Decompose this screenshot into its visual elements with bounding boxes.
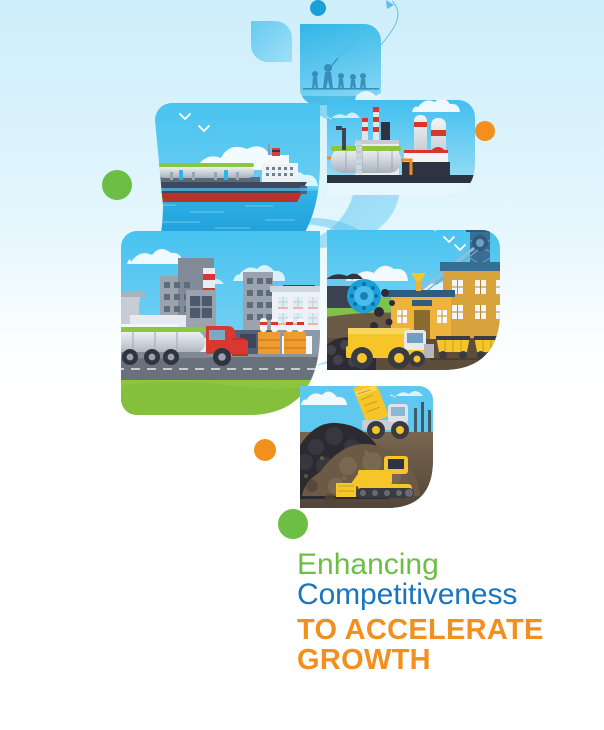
dot-green-left xyxy=(102,170,132,200)
haul-truck xyxy=(346,328,434,369)
headline-line-3: TO ACCELERATE xyxy=(297,615,597,646)
dot-orange-lower xyxy=(254,439,276,461)
dot-blue-top xyxy=(310,0,326,16)
storage-tank xyxy=(331,142,401,174)
dot-green-lower xyxy=(278,509,308,539)
tile-sky-top-left xyxy=(251,21,292,62)
headline-line-4: GROWTH xyxy=(297,645,597,676)
headline-line-1: Enhancing xyxy=(297,549,597,581)
tanker-truck xyxy=(106,326,248,366)
panel-refinery xyxy=(320,95,480,203)
panel-mining xyxy=(320,215,512,375)
lng-tanks xyxy=(158,163,254,180)
dot-orange-right xyxy=(475,121,495,141)
headline-block: Enhancing Competitiveness TO ACCELERATE … xyxy=(297,549,597,676)
plant-ground xyxy=(320,175,480,183)
panel-excavation xyxy=(295,380,440,510)
headline-line-2: Competitiveness xyxy=(297,579,597,611)
panel-industrial-city xyxy=(106,225,330,425)
cover-stage: Enhancing Competitiveness TO ACCELERATE … xyxy=(0,0,604,730)
